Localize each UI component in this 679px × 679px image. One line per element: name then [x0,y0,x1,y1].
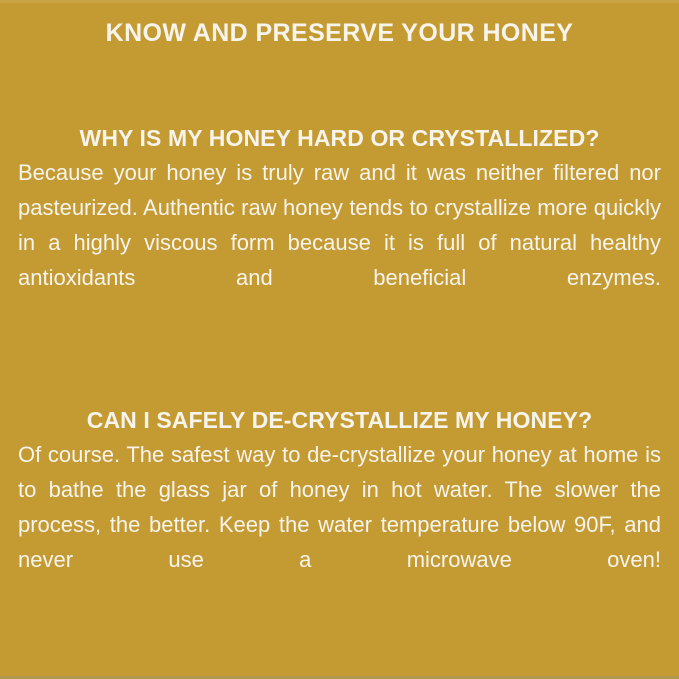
faq-question-heading-1: WHY IS MY HONEY HARD OR CRYSTALLIZED? [18,124,661,153]
faq-answer-text-2: Of course. The safest way to de-crystall… [18,437,661,612]
faq-section-crystallized: WHY IS MY HONEY HARD OR CRYSTALLIZED? Be… [18,124,661,330]
faq-question-heading-2: CAN I SAFELY DE-CRYSTALLIZE MY HONEY? [18,406,661,435]
poster-content: KNOW AND PRESERVE YOUR HONEY WHY IS MY H… [0,0,679,612]
page-title: KNOW AND PRESERVE YOUR HONEY [18,0,661,48]
faq-section-decrystallize: CAN I SAFELY DE-CRYSTALLIZE MY HONEY? Of… [18,406,661,612]
faq-answer-text-1: Because your honey is truly raw and it w… [18,155,661,330]
honey-info-poster: KNOW AND PRESERVE YOUR HONEY WHY IS MY H… [0,0,679,679]
